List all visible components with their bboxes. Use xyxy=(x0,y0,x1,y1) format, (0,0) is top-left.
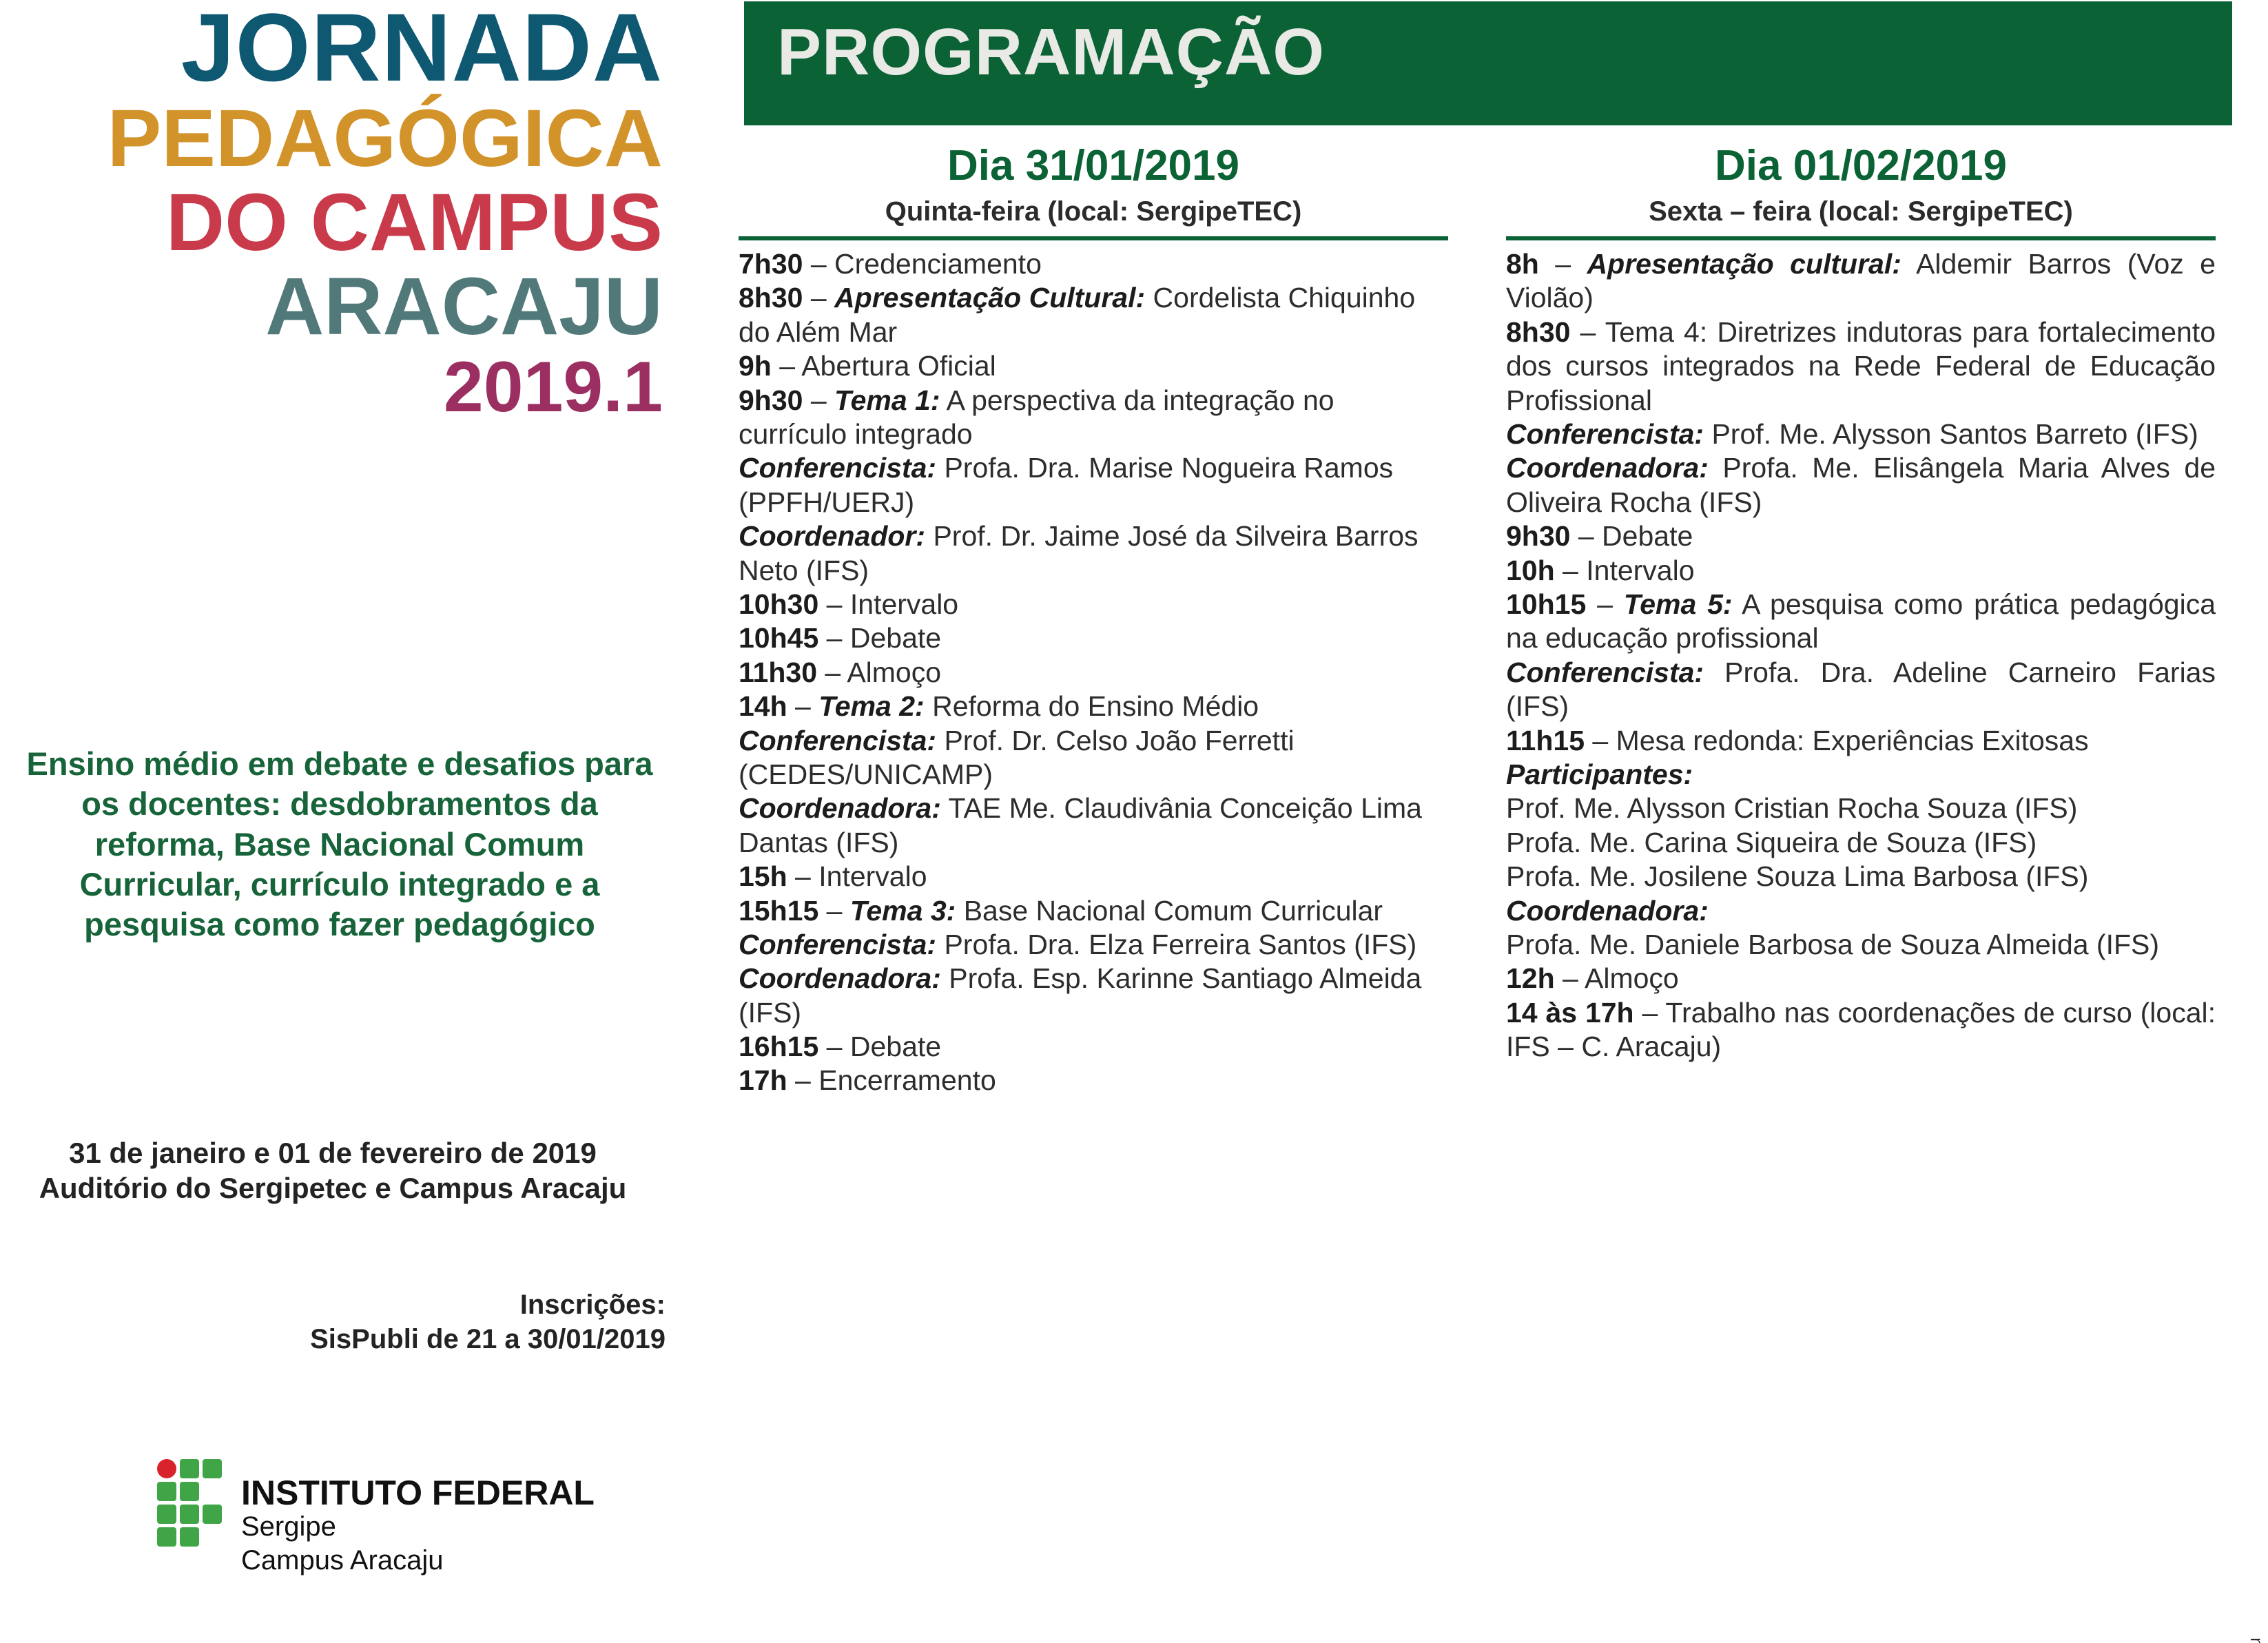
schedule-item: Coordenadora: xyxy=(1506,894,2216,928)
schedule-item-text: Debate xyxy=(850,1031,941,1062)
registration-value: SisPubli de 21 a 30/01/2019 xyxy=(0,1323,666,1357)
schedule-item: 14 às 17h – Trabalho nas coordenações de… xyxy=(1506,996,2216,1064)
schedule-item: Conferencista: Profa. Dra. Marise Noguei… xyxy=(739,451,1448,519)
title-line-do-campus: DO CAMPUS xyxy=(0,184,663,261)
schedule-item-time: 9h30 xyxy=(1506,520,1570,552)
credit-wrapper: Diagramação -CPG - Campus Aracaju xyxy=(2227,1202,2268,1643)
ifs-logo: INSTITUTO FEDERAL Sergipe Campus Aracaju xyxy=(157,1459,595,1578)
schedule-item: 12h – Almoço xyxy=(1506,962,2216,995)
schedule-item: 9h30 – Debate xyxy=(1506,519,2216,553)
schedule-item: Profa. Me. Josilene Souza Lima Barbosa (… xyxy=(1506,860,2216,893)
schedule-item-text: A pesquisa como prática pedagógica na ed… xyxy=(1506,588,2216,654)
schedule-item-text: Profa. Me. Daniele Barbosa de Souza Alme… xyxy=(1506,929,2159,960)
schedule-item-time: 16h15 xyxy=(739,1031,818,1062)
schedule-item-text: Debate xyxy=(850,622,941,654)
schedule-item: Coordenadora: Profa. Me. Elisângela Mari… xyxy=(1506,451,2216,519)
schedule-item-role: Tema 2: xyxy=(818,690,924,722)
registration-label: Inscrições: xyxy=(0,1288,666,1323)
schedule-item-text: Intervalo xyxy=(818,860,927,892)
schedule-item-text: Profa. Me. Carina Siqueira de Souza (IFS… xyxy=(1506,827,2037,858)
schedule-item: 9h30 – Tema 1: A perspectiva da integraç… xyxy=(739,384,1448,452)
schedule-item: 8h30 – Tema 4: Diretrizes indutoras para… xyxy=(1506,316,2216,417)
schedule-item: Conferencista: Prof. Dr. Celso João Ferr… xyxy=(739,724,1448,792)
schedule-item-role: Conferencista: xyxy=(739,452,936,484)
ifs-logo-text: INSTITUTO FEDERAL Sergipe Campus Aracaju xyxy=(241,1459,595,1578)
schedule-item-role: Tema 3: xyxy=(850,895,956,927)
schedule-item-text: A perspectiva da integração no currículo… xyxy=(739,384,1334,450)
schedule-item-text: Intervalo xyxy=(850,588,958,620)
day-1-title: Dia 31/01/2019 xyxy=(739,143,1448,188)
schedule-item-text: Mesa redonda: Experiências Exitosas xyxy=(1616,725,2089,756)
schedule-item-time: 17h xyxy=(739,1064,787,1096)
schedule-item-role: Conferencista: xyxy=(1506,418,1704,450)
schedule-item-time: 11h15 xyxy=(1506,725,1585,756)
day-1-schedule: 7h30 – Credenciamento8h30 – Apresentação… xyxy=(739,247,1448,1098)
schedule-item-time: 15h15 xyxy=(739,895,818,927)
schedule-item-role: Tema 5: xyxy=(1624,588,1733,620)
event-date-line: 31 de janeiro e 01 de fevereiro de 2019 xyxy=(0,1135,666,1170)
schedule-item-time: 10h30 xyxy=(739,588,818,620)
day-column-1: Dia 31/01/2019 Quinta-feira (local: Serg… xyxy=(739,143,1448,1098)
schedule-item-time: 8h30 xyxy=(739,282,803,313)
schedule-item: 17h – Encerramento xyxy=(739,1064,1448,1097)
programacao-banner: PROGRAMAÇÃO xyxy=(744,1,2232,125)
schedule-item-role: Conferencista: xyxy=(1506,657,1704,688)
schedule-item: 14h – Tema 2: Reforma do Ensino Médio xyxy=(739,690,1448,723)
schedule-item-role: Apresentação Cultural: xyxy=(834,282,1145,313)
schedule-item: 11h30 – Almoço xyxy=(739,656,1448,690)
schedule-item-role: Tema 1: xyxy=(834,384,940,416)
schedule-item: Coordenadora: Profa. Esp. Karinne Santia… xyxy=(739,962,1448,1030)
schedule-item-time: 11h30 xyxy=(739,657,817,688)
schedule-item: 15h15 – Tema 3: Base Nacional Comum Curr… xyxy=(739,894,1448,928)
schedule-item-time: 9h xyxy=(739,350,772,382)
schedule-item-role: Apresentação cultural: xyxy=(1587,248,1901,280)
event-title-block: JORNADA PEDAGÓGICA DO CAMPUS ARACAJU 201… xyxy=(0,0,689,422)
schedule-item-role: Coordenadora: xyxy=(1506,452,1709,484)
event-dates: 31 de janeiro e 01 de fevereiro de 2019 … xyxy=(0,1135,666,1206)
schedule-item: 10h30 – Intervalo xyxy=(739,588,1448,621)
schedule-item-text: Tema 4: Diretrizes indutoras para fortal… xyxy=(1506,316,2216,416)
schedule-item-time: 9h30 xyxy=(739,384,803,416)
schedule-item: 8h30 – Apresentação Cultural: Cordelista… xyxy=(739,281,1448,349)
schedule-item-role: Coordenadora: xyxy=(739,962,941,994)
schedule-item-time: 10h xyxy=(1506,555,1555,586)
schedule-item-text: Prof. Me. Alysson Santos Barreto (IFS) xyxy=(1704,418,2198,450)
schedule-item-time: 15h xyxy=(739,860,787,892)
schedule-item-text: Intervalo xyxy=(1586,555,1694,586)
schedule-item-text: Credenciamento xyxy=(834,248,1042,280)
schedule-item-time: 14 às 17h xyxy=(1506,997,1634,1029)
poster-root: JORNADA PEDAGÓGICA DO CAMPUS ARACAJU 201… xyxy=(0,0,2268,1643)
day-2-subtitle: Sexta – feira (local: SergipeTEC) xyxy=(1506,196,2216,227)
schedule-item: Conferencista: Profa. Dra. Adeline Carne… xyxy=(1506,656,2216,724)
title-line-jornada: JORNADA xyxy=(0,1,663,93)
diagramacao-credit: Diagramação -CPG - Campus Aracaju xyxy=(2244,1637,2265,1643)
schedule-item-role: Coordenadora: xyxy=(739,792,941,824)
schedule-item-time: 8h30 xyxy=(1506,316,1570,348)
event-venue-line: Auditório do Sergipetec e Campus Aracaju xyxy=(0,1170,666,1206)
ifs-logo-state: Sergipe xyxy=(241,1510,595,1544)
schedule-item-time: 14h xyxy=(739,690,787,722)
schedule-item-text: Debate xyxy=(1602,520,1693,552)
title-line-year: 2019.1 xyxy=(0,353,663,422)
schedule-item: Coordenador: Prof. Dr. Jaime José da Sil… xyxy=(739,519,1448,588)
schedule-item: 16h15 – Debate xyxy=(739,1030,1448,1064)
schedule-item-text: Abertura Oficial xyxy=(801,350,996,382)
schedule-item: 15h – Intervalo xyxy=(739,860,1448,893)
schedule-item-text: Almoço xyxy=(1585,962,1679,994)
schedule-item-text: Almoço xyxy=(847,657,941,688)
schedule-item: Participantes: xyxy=(1506,758,2216,792)
schedule-item: 8h – Apresentação cultural: Aldemir Barr… xyxy=(1506,247,2216,316)
schedule-item-text: Profa. Me. Josilene Souza Lima Barbosa (… xyxy=(1506,860,2088,892)
event-subtitle: Ensino médio em debate e desafios para o… xyxy=(12,744,667,944)
day-2-divider xyxy=(1506,236,2216,240)
schedule-item-role: Participantes: xyxy=(1506,758,1693,790)
schedule-item: Conferencista: Profa. Dra. Elza Ferreira… xyxy=(739,928,1448,962)
schedule-item: 11h15 – Mesa redonda: Experiências Exito… xyxy=(1506,724,2216,758)
schedule-item-time: 8h xyxy=(1506,248,1539,280)
schedule-item-text: Base Nacional Comum Curricular xyxy=(956,895,1383,927)
schedule-item-time: 7h30 xyxy=(739,248,803,280)
schedule-item-time: 10h45 xyxy=(739,622,818,654)
day-2-schedule: 8h – Apresentação cultural: Aldemir Barr… xyxy=(1506,247,2216,1064)
schedule-item-role: Conferencista: xyxy=(739,929,936,960)
registration-info: Inscrições: SisPubli de 21 a 30/01/2019 xyxy=(0,1288,666,1356)
ifs-logo-mark-icon xyxy=(157,1459,223,1547)
day-1-subtitle: Quinta-feira (local: SergipeTEC) xyxy=(739,196,1448,227)
programacao-banner-title: PROGRAMAÇÃO xyxy=(744,1,2232,85)
schedule-item: Conferencista: Prof. Me. Alysson Santos … xyxy=(1506,417,2216,451)
schedule-item-text: Prof. Me. Alysson Cristian Rocha Souza (… xyxy=(1506,792,2077,824)
schedule-item: Profa. Me. Daniele Barbosa de Souza Alme… xyxy=(1506,928,2216,962)
day-2-title: Dia 01/02/2019 xyxy=(1506,143,2216,188)
left-panel: JORNADA PEDAGÓGICA DO CAMPUS ARACAJU 201… xyxy=(0,0,703,1643)
schedule-item: Coordenadora: TAE Me. Claudivânia Concei… xyxy=(739,792,1448,860)
ifs-logo-title: INSTITUTO FEDERAL xyxy=(241,1476,595,1510)
schedule-item-role: Coordenadora: xyxy=(1506,895,1709,927)
schedule-item: 7h30 – Credenciamento xyxy=(739,247,1448,281)
schedule-item-text: Profa. Dra. Elza Ferreira Santos (IFS) xyxy=(936,929,1416,960)
ifs-logo-campus: Campus Aracaju xyxy=(241,1544,595,1578)
schedule-item-text: Encerramento xyxy=(818,1064,996,1096)
schedule-item-role: Conferencista: xyxy=(739,725,936,756)
schedule-item-time: 12h xyxy=(1506,962,1555,994)
schedule-item: 10h – Intervalo xyxy=(1506,554,2216,588)
schedule-item-role: Coordenador: xyxy=(739,520,925,552)
schedule-item: 10h45 – Debate xyxy=(739,621,1448,655)
title-line-aracaju: ARACAJU xyxy=(0,268,663,345)
schedule-item: Profa. Me. Carina Siqueira de Souza (IFS… xyxy=(1506,826,2216,860)
schedule-item-time: 10h15 xyxy=(1506,588,1586,620)
schedule-item: Prof. Me. Alysson Cristian Rocha Souza (… xyxy=(1506,792,2216,825)
day-1-divider xyxy=(739,236,1448,240)
day-column-2: Dia 01/02/2019 Sexta – feira (local: Ser… xyxy=(1506,143,2216,1064)
schedule-item: 9h – Abertura Oficial xyxy=(739,349,1448,383)
schedule-item: 10h15 – Tema 5: A pesquisa como prática … xyxy=(1506,588,2216,656)
schedule-item-text: Reforma do Ensino Médio xyxy=(925,690,1259,722)
title-line-pedagogica: PEDAGÓGICA xyxy=(0,100,663,177)
